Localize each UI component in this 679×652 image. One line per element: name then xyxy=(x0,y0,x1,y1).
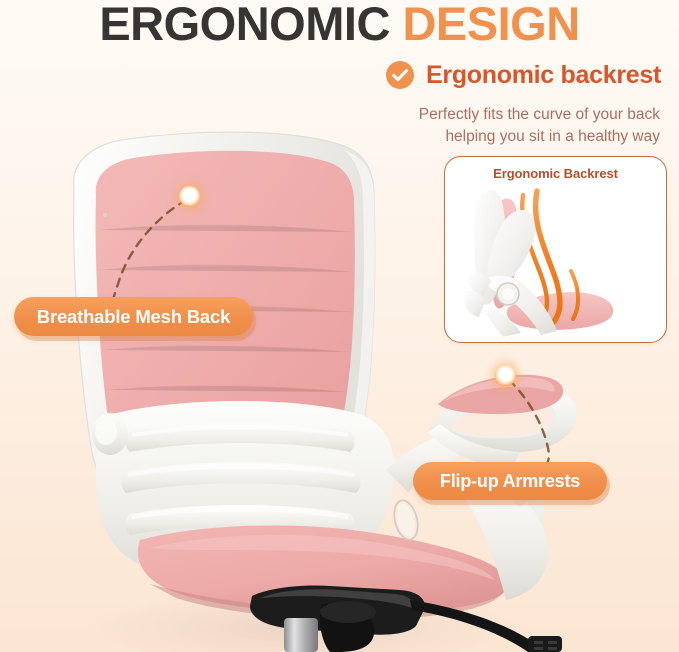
feature-subtitle-line-1: Perfectly fits the curve of your back xyxy=(419,106,660,123)
marker-dot-mesh-back xyxy=(179,186,200,207)
feature-title: Ergonomic backrest xyxy=(426,61,661,90)
marker-dot-armrest xyxy=(495,365,516,386)
ergonomic-backrest-inset-card: Ergonomic Backrest xyxy=(444,156,667,343)
callout-label-mesh-back: Breathable Mesh Back xyxy=(37,306,230,328)
check-circle-icon xyxy=(385,60,415,90)
spine-curve-illustration xyxy=(445,179,666,342)
page-title: ERGONOMIC DESIGN xyxy=(0,0,679,52)
feature-subtitle-line-2: helping you sit in a healthy way xyxy=(445,128,660,145)
callout-breathable-mesh-back[interactable]: Breathable Mesh Back xyxy=(14,297,253,336)
feature-subtitle: Perfectly fits the curve of your back he… xyxy=(330,104,660,148)
feature-heading: Ergonomic backrest xyxy=(385,60,661,90)
callout-flip-up-armrests[interactable]: Flip-up Armrests xyxy=(413,462,607,500)
product-feature-image: ERGONOMIC DESIGN Ergonomic backrest Perf… xyxy=(0,0,679,652)
callout-label-armrests: Flip-up Armrests xyxy=(440,471,580,492)
headline-word-1: ERGONOMIC xyxy=(99,0,390,50)
headline-word-2: DESIGN xyxy=(402,0,579,50)
